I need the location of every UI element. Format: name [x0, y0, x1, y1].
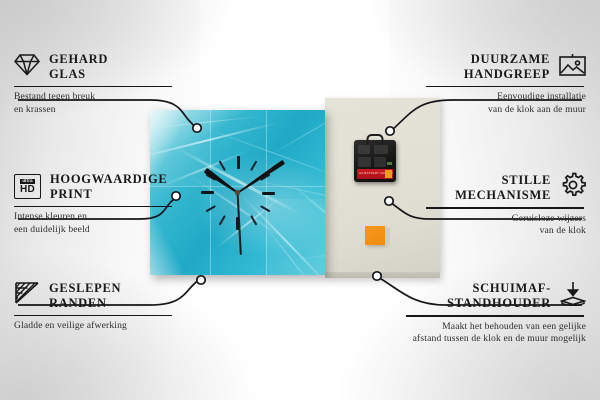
feature-schuimafstandhouder[interactable]: SCHUIMAF-STANDHOUDER Maakt het behouden … [406, 281, 586, 346]
movement-hanger [367, 134, 384, 145]
quartz-movement: AA BATTERY NOT INCLUDED [354, 140, 396, 182]
foam-spacer-side [385, 227, 390, 247]
feature-header: GEHARDGLAS [14, 52, 174, 82]
movement-detail [374, 145, 388, 154]
clock-front-image [150, 110, 325, 275]
feature-rule [406, 315, 584, 317]
feature-description: Geruisloze wijzersvan de klok [426, 213, 586, 238]
feature-rule [426, 86, 584, 88]
feature-title: STILLEMECHANISME [455, 173, 551, 203]
clock-back-panel-image: AA BATTERY NOT INCLUDED [325, 98, 440, 278]
movement-detail [358, 145, 370, 154]
feature-description: Bestand tegen breuken krassen [14, 91, 174, 116]
hands-center-cap [235, 190, 240, 195]
infographic-canvas: AA BATTERY NOT INCLUDED [0, 0, 600, 400]
feature-rule [426, 207, 584, 209]
minute-hand [236, 159, 285, 194]
feature-title: DUURZAMEHANDGREEP [464, 52, 550, 82]
movement-detail [358, 157, 371, 167]
feature-stille-mechanisme[interactable]: STILLEMECHANISME Geruisloze wijzersvan d… [426, 172, 586, 238]
battery-label: AA BATTERY NOT INCLUDED [357, 169, 393, 179]
feature-title: SCHUIMAF-STANDHOUDER [447, 281, 551, 311]
feature-description: Maakt het behouden van een gelijkeafstan… [406, 321, 586, 346]
feature-rule [14, 206, 172, 208]
feature-duurzame-handgreep[interactable]: DUURZAMEHANDGREEP Eenvoudige installatie… [426, 52, 586, 116]
feather-streak [267, 110, 325, 157]
movement-green-dot [387, 162, 392, 165]
feature-description: Gladde en veilige afwerking [14, 320, 174, 332]
feature-description: Eenvoudige installatievan de klok aan de… [426, 91, 586, 116]
feature-rule [14, 315, 172, 317]
feature-header: GESLEPENRANDEN [14, 281, 174, 311]
gear-icon [560, 172, 586, 203]
feature-rule [14, 86, 172, 88]
feature-title: HOOGWAARDIGEPRINT [50, 172, 167, 202]
picture-frame-icon [559, 53, 586, 81]
feather-streak [303, 110, 325, 137]
feature-header: DUURZAMEHANDGREEP [426, 52, 586, 82]
feature-header: SCHUIMAF-STANDHOUDER [406, 281, 586, 311]
feature-hoogwaardige-print[interactable]: ultra HD HOOGWAARDIGEPRINT Intense kleur… [14, 172, 174, 236]
feature-geslepen-randen[interactable]: GESLEPENRANDEN Gladde en veilige afwerki… [14, 281, 174, 333]
ultra-hd-icon: ultra HD [14, 174, 41, 199]
feature-title: GEHARDGLAS [49, 52, 108, 82]
feature-gehard-glas[interactable]: GEHARDGLAS Bestand tegen breuken krassen [14, 52, 174, 116]
panel-bottom-edge [325, 272, 440, 278]
feature-title: GESLEPENRANDEN [49, 281, 121, 311]
movement-detail [374, 157, 386, 167]
beveled-edges-icon [14, 282, 40, 309]
battery-plus-marker [385, 170, 392, 178]
glass-pane [266, 199, 326, 275]
foam-spacer [365, 226, 385, 245]
feature-header: STILLEMECHANISME [426, 172, 586, 203]
ultra-hd-icon-hd: HD [20, 185, 35, 195]
spacer-arrow-icon [560, 281, 586, 311]
feature-description: Intense kleuren eneen duidelijk beeld [14, 211, 174, 236]
feature-header: ultra HD HOOGWAARDIGEPRINT [14, 172, 174, 202]
diamond-icon [14, 53, 40, 81]
